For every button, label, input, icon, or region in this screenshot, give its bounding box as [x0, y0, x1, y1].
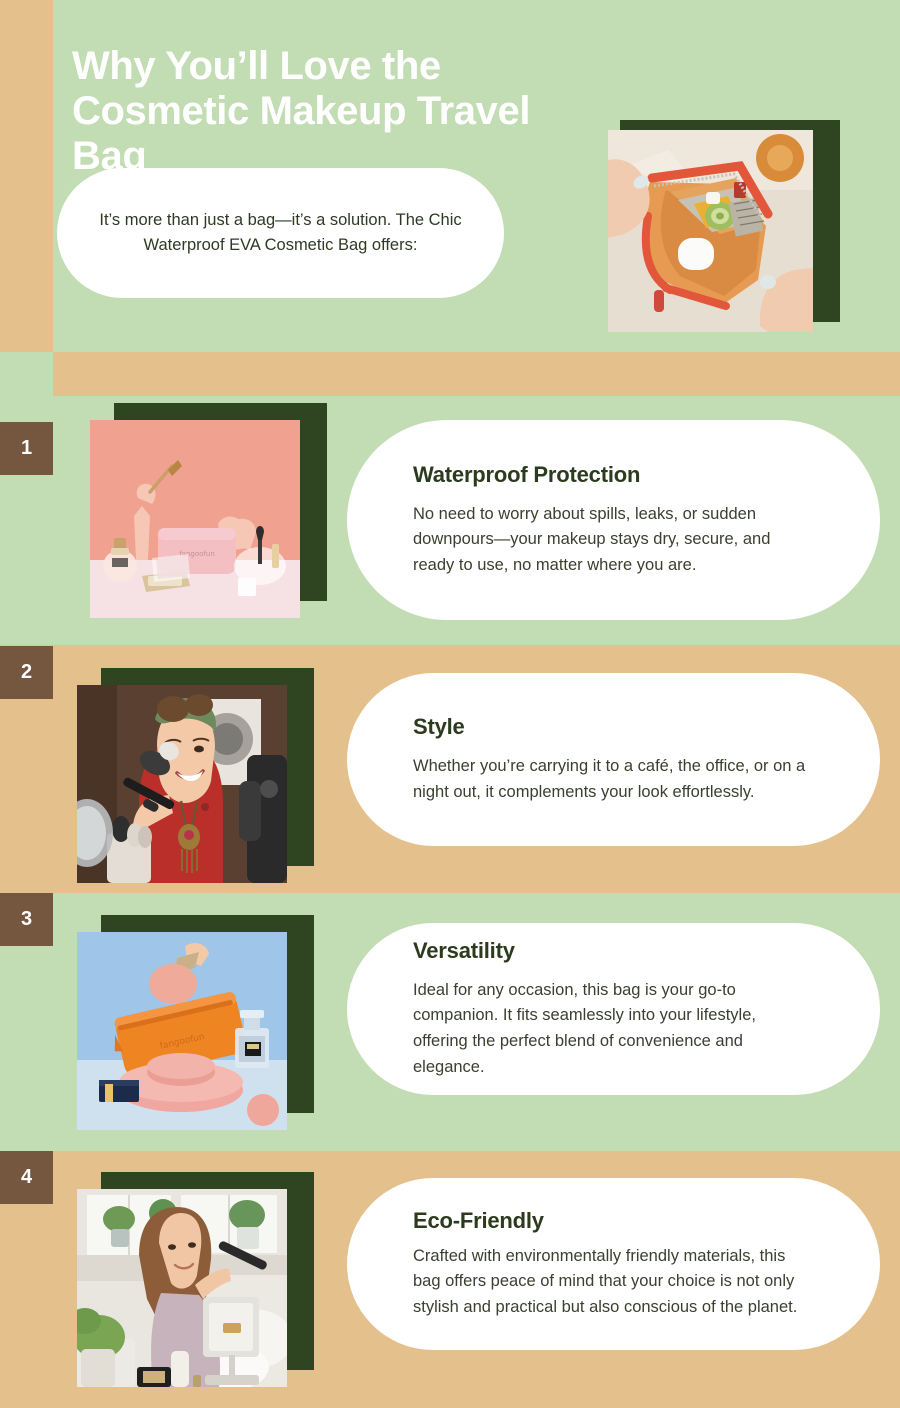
infographic-page: Why You’ll Love the Cosmetic Makeup Trav…: [0, 0, 900, 1408]
step-badge-1: 1: [0, 422, 53, 475]
section-2-image-block: [77, 668, 314, 883]
section-2-photo: [77, 685, 287, 883]
divider-band: [53, 352, 900, 396]
feature-card-4: Eco-Friendly Crafted with environmentall…: [347, 1178, 880, 1350]
intro-callout: It’s more than just a bag—it’s a solutio…: [57, 168, 504, 298]
section-4-photo: [77, 1189, 287, 1387]
section-1-image-block: fangoofun: [90, 403, 327, 618]
feature-card-4-body: Crafted with environmentally friendly ma…: [413, 1244, 814, 1321]
feature-card-1: Waterproof Protection No need to worry a…: [347, 420, 880, 620]
step-badge-3: 3: [0, 893, 53, 946]
section-4-image-block: [77, 1172, 314, 1387]
step-badge-2: 2: [0, 646, 53, 699]
left-strip-divider: [0, 352, 53, 396]
section-1-photo: fangoofun: [90, 420, 300, 618]
feature-card-1-heading: Waterproof Protection: [413, 462, 814, 488]
hero-photo: [608, 130, 813, 332]
page-title: Why You’ll Love the Cosmetic Makeup Trav…: [72, 44, 592, 180]
section-3-image-block: fangoofun: [77, 915, 314, 1130]
hero-image-block: [608, 120, 840, 332]
feature-card-2-body: Whether you’re carrying it to a café, th…: [413, 754, 814, 805]
feature-card-3: Versatility Ideal for any occasion, this…: [347, 923, 880, 1095]
feature-card-1-body: No need to worry about spills, leaks, or…: [413, 502, 814, 579]
feature-card-4-heading: Eco-Friendly: [413, 1208, 814, 1234]
intro-text: It’s more than just a bag—it’s a solutio…: [97, 208, 464, 258]
feature-card-3-heading: Versatility: [413, 938, 814, 964]
feature-card-3-body: Ideal for any occasion, this bag is your…: [413, 978, 814, 1080]
step-badge-4: 4: [0, 1151, 53, 1204]
left-strip-header: [0, 0, 53, 352]
section-3-photo: fangoofun: [77, 932, 287, 1130]
feature-card-2: Style Whether you’re carrying it to a ca…: [347, 673, 880, 846]
feature-card-2-heading: Style: [413, 714, 814, 740]
